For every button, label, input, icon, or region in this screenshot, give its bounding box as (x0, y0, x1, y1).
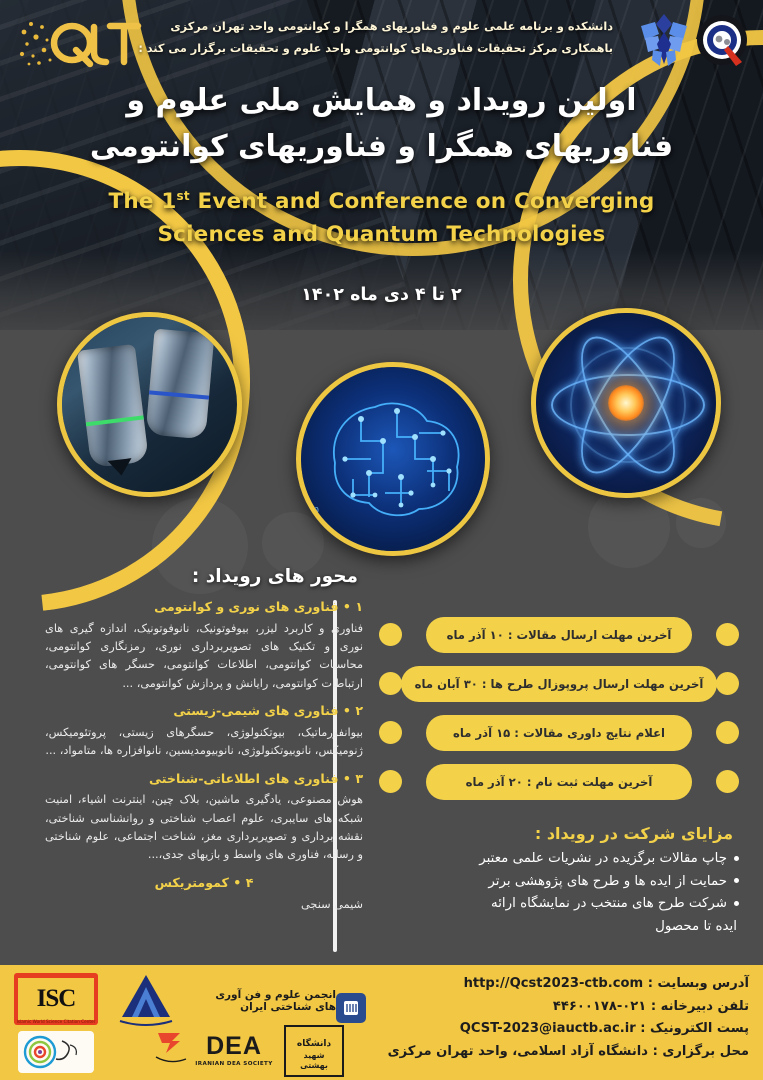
contact-info: آدرس وبسایت : http://Qcst2023-ctb.com تل… (349, 973, 749, 1063)
bullet-icon (734, 856, 739, 861)
deadline-pill: آخرین مهلت ارسال مقالات : ۱۰ آذر ماه (426, 617, 692, 653)
phone-label: تلفن دبیرخانه : (651, 999, 749, 1014)
benefit-item: چاپ مقالات برگزیده در نشریات علمی معتبر (391, 848, 739, 870)
deadline-pill: اعلام نتایج داوری مقالات : ۱۵ آذر ماه (426, 715, 692, 751)
dea-logo-caption: IRANIAN DEA SOCIETY (195, 1061, 272, 1067)
deadlines-list: آخرین مهلت ارسال مقالات : ۱۰ آذر ماه آخر… (379, 614, 739, 810)
ordinal-suffix: st (177, 189, 190, 203)
topic-title: ۳ • فناوری های اطلاعاتی-شناختی (45, 770, 363, 789)
topic-title-text: فناوری های اطلاعاتی-شناختی (149, 771, 339, 786)
topic-title: ۲ • فناوری های شیمی-زیستی (45, 702, 363, 721)
atom-orbitals-photo (531, 308, 721, 498)
topic-item: ۱ • فناوری های نوری و کوانتومی فناوری و … (45, 598, 363, 693)
partner-logos (639, 8, 753, 74)
topic-item: ۲ • فناوری های شیمی-زیستی بیوانفورماتیک،… (45, 702, 363, 760)
topic-body: شیمی سنجی (45, 896, 363, 914)
topic-number: ۲ (355, 703, 363, 718)
deadline-row: آخرین مهلت ارسال مقالات : ۱۰ آذر ماه (379, 614, 739, 655)
website-row: آدرس وبسایت : http://Qcst2023-ctb.com (349, 973, 749, 996)
research-park-logo (154, 1027, 188, 1067)
deadline-dot (716, 672, 739, 695)
email-value[interactable]: QCST-2023@iauctb.ac.ir (460, 1021, 636, 1036)
benefit-text: شرکت طرح های منتخب در نمایشگاه ارائه (491, 896, 727, 911)
deadline-pill: آخرین مهلت ثبت نام : ۲۰ آذر ماه (426, 764, 692, 800)
benefits-heading: مزایای شرکت در رویداد : (535, 824, 733, 843)
svg-text:شهید: شهید (303, 1051, 324, 1060)
english-title-line-1: The 1st Event and Conference on Convergi… (0, 185, 763, 218)
quantum-research-center-logo (695, 12, 753, 70)
host-line-1: دانشکده و برنامه علمی علوم و فناوریهای ه… (133, 16, 613, 38)
website-value[interactable]: http://Qcst2023-ctb.com (464, 976, 644, 991)
topic-title: ۱ • فناوری های نوری و کوانتومی (45, 598, 363, 617)
english-title: The 1st Event and Conference on Convergi… (0, 185, 763, 252)
phone-row: تلفن دبیرخانه : ۰۲۱-۴۴۶۰۰۱۷۸ (349, 996, 749, 1019)
bullet-icon (734, 901, 739, 906)
deadline-row: آخرین مهلت ارسال پروپوزال طرح ها : ۳۰ آب… (379, 663, 739, 704)
university-triangle-logo (114, 973, 178, 1031)
shahid-beheshti-university-logo: دانشگاه شهید بهشتی (284, 1025, 344, 1077)
deadline-dot (379, 623, 402, 646)
topic-number: ۴ (246, 875, 254, 890)
persian-title-line-1: اولین رویداد و همایش ملی علوم و (0, 78, 763, 124)
isc-logo-caption: Islamic World Science Citation Center (14, 1019, 98, 1024)
host-line-2: باهمکاری مرکز تحقیقات فناوری‌های کوانتوم… (133, 38, 613, 60)
svg-text:1001: 1001 (301, 526, 319, 535)
benefit-item: حمایت از ایده ها و طرح های پژوهشی برتر (391, 871, 739, 893)
phone-value: ۰۲۱-۴۴۶۰۰۱۷۸ (553, 999, 646, 1014)
venue-row: محل برگزاری : دانشگاه آزاد اسلامی، واحد … (349, 1041, 749, 1064)
svg-text:دانشگاه: دانشگاه (297, 1037, 332, 1049)
dea-logo-text: DEA (206, 1032, 262, 1061)
cognitive-science-logo (18, 1031, 94, 1073)
topic-item: ۳ • فناوری های اطلاعاتی-شناختی هوش مصنوع… (45, 770, 363, 865)
circuit-board-brain-photo: 01100100 10011011 (296, 362, 490, 556)
bullet-icon (734, 878, 739, 883)
sponsor-logos: ISC Islamic World Science Citation Cente… (6, 969, 346, 1077)
svg-text:بهشتی: بهشتی (300, 1061, 328, 1070)
deadline-dot (379, 672, 402, 695)
english-title-prefix: The 1 (109, 189, 177, 214)
svg-text:1011: 1011 (301, 496, 309, 505)
qcst-logo (14, 10, 146, 80)
benefit-continuation: ایده تا محصول (391, 916, 739, 938)
axes-heading: محور های رویداد : (192, 566, 358, 587)
topic-title-text: کمومتریکس (155, 875, 229, 890)
topics-list: ۱ • فناوری های نوری و کوانتومی فناوری و … (45, 598, 363, 923)
deadline-row: اعلام نتایج داوری مقالات : ۱۵ آذر ماه (379, 712, 739, 753)
event-date: ۲ تا ۴ دی ماه ۱۴۰۲ (0, 285, 763, 305)
topic-number: ۱ (355, 599, 363, 614)
host-organizations: دانشکده و برنامه علمی علوم و فناوریهای ه… (133, 16, 613, 60)
persian-title: اولین رویداد و همایش ملی علوم و فناوریها… (0, 78, 763, 169)
deadline-pill: آخرین مهلت ارسال پروپوزال طرح ها : ۳۰ آب… (401, 666, 718, 702)
deadline-row: آخرین مهلت ثبت نام : ۲۰ آذر ماه (379, 761, 739, 802)
website-label: آدرس وبسایت : (648, 976, 749, 991)
islamic-azad-university-logo (639, 8, 689, 74)
conference-poster: دانشکده و برنامه علمی علوم و فناوریهای ه… (0, 0, 763, 1080)
svg-text:0100: 0100 (301, 516, 319, 525)
topic-body: فناوری و کاربرد لیزر، بیوفوتونیک، نانوفو… (45, 620, 363, 693)
persian-title-line-2: فناوریهای همگرا و فناوریهای کوانتومی (0, 124, 763, 170)
dea-society-logo: DEA IRANIAN DEA SOCIETY (188, 1027, 280, 1071)
microscope-objective-lenses-photo (57, 312, 242, 497)
benefits-list: چاپ مقالات برگزیده در نشریات علمی معتبر … (391, 848, 739, 938)
deadline-dot (716, 623, 739, 646)
english-title-line-2: Sciences and Quantum Technologies (0, 218, 763, 251)
venue-label: محل برگزاری : (653, 1044, 749, 1059)
venue-value: دانشگاه آزاد اسلامی، واحد تهران مرکزی (388, 1044, 648, 1059)
topic-title-text: فناوری های نوری و کوانتومی (154, 599, 338, 614)
email-label: پست الکترونیک : (640, 1021, 749, 1036)
benefit-item: شرکت طرح های منتخب در نمایشگاه ارائه (391, 893, 739, 915)
deadline-dot (716, 721, 739, 744)
deadline-dot (379, 770, 402, 793)
topic-body: بیوانفورماتیک، بیوتکنولوژی، حسگرهای زیست… (45, 724, 363, 761)
email-row: پست الکترونیک : QCST-2023@iauctb.ac.ir (349, 1018, 749, 1041)
isc-logo-text: ISC (18, 978, 94, 1020)
deadline-dot (716, 770, 739, 793)
topic-body: هوش مصنوعی، یادگیری ماشین، بلاک چین، این… (45, 791, 363, 864)
benefit-text: چاپ مقالات برگزیده در نشریات علمی معتبر (479, 851, 727, 866)
topic-number: ۳ (355, 771, 363, 786)
english-title-rest: Event and Conference on Converging (190, 189, 655, 214)
footer-bar: آدرس وبسایت : http://Qcst2023-ctb.com تل… (0, 965, 763, 1080)
isc-logo: ISC (14, 973, 98, 1025)
benefit-text: حمایت از ایده ها و طرح های پژوهشی برتر (488, 874, 727, 889)
deadline-dot (379, 721, 402, 744)
topic-item: ۴ • کمومتریکس شیمی سنجی (45, 874, 363, 914)
topic-title: ۴ • کمومتریکس (45, 874, 363, 893)
topic-title-text: فناوری های شیمی-زیستی (173, 703, 338, 718)
svg-text:0110: 0110 (301, 506, 319, 515)
cognitive-association-label: انجمن علوم و فن آوری های شناختی ایران (196, 979, 336, 1023)
